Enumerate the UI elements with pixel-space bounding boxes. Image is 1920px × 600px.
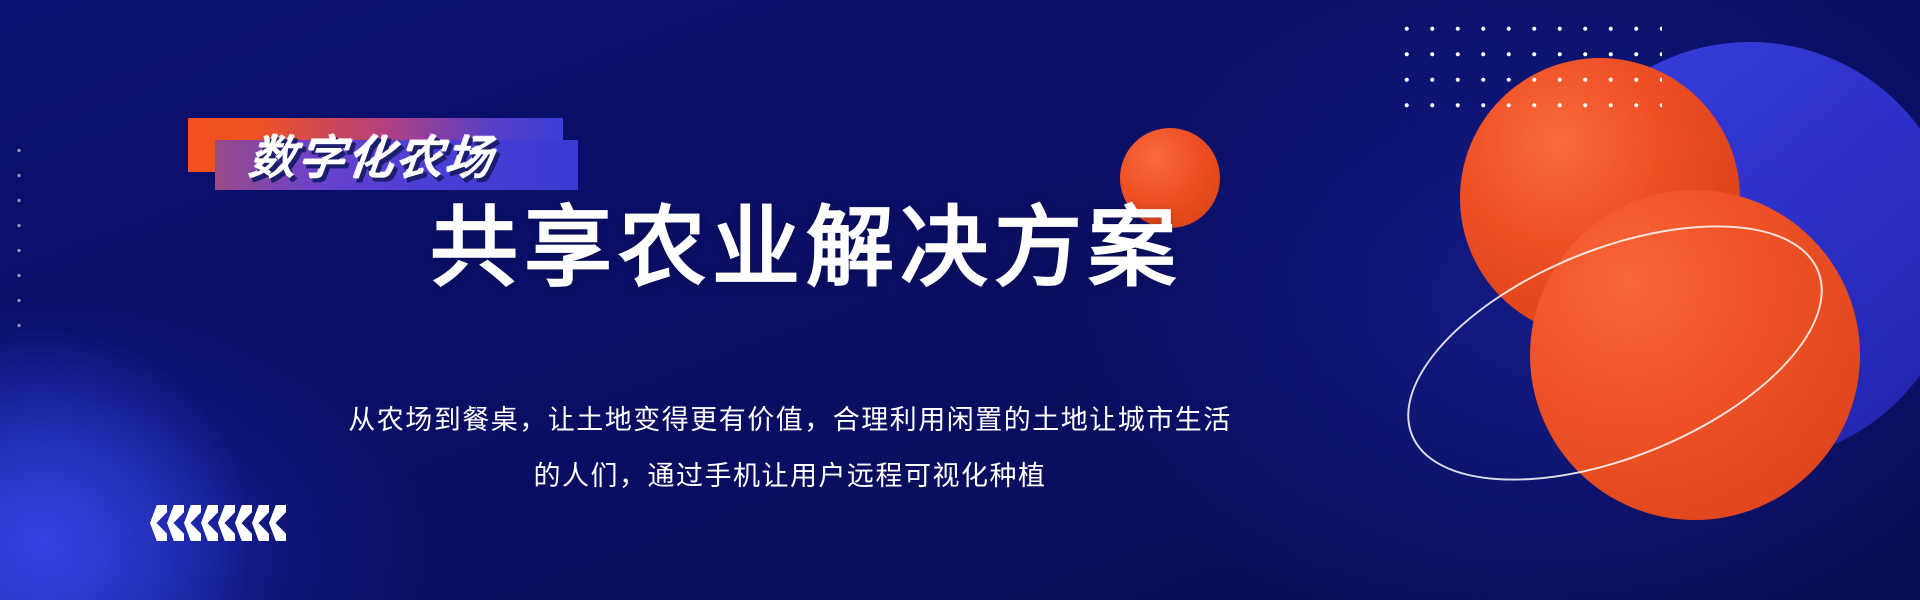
chevron-left-arrows-decoration <box>150 498 286 548</box>
subtitle-line-2: 的人们，通过手机让用户远程可视化种植 <box>300 448 1280 504</box>
dot-grid-decoration <box>1392 12 1662 122</box>
blue-glow-blob-decoration <box>0 330 250 600</box>
dot-column-decoration <box>16 138 22 338</box>
subtitle-line-1: 从农场到餐桌，让土地变得更有价值，合理利用闲置的土地让城市生活 <box>300 392 1280 448</box>
chevron-left-icon <box>150 498 167 548</box>
orange-sphere-large-decoration <box>1530 190 1860 520</box>
orbit-ellipse-decoration <box>1372 173 1859 533</box>
chevron-left-icon <box>218 498 235 548</box>
blue-ring-circle-decoration <box>1540 42 1920 462</box>
subtitle: 从农场到餐桌，让土地变得更有价值，合理利用闲置的土地让城市生活 的人们，通过手机… <box>300 392 1280 504</box>
promo-banner: 数字化农场 共享农业解决方案 从农场到餐桌，让土地变得更有价值，合理利用闲置的土… <box>0 0 1920 600</box>
chevron-left-icon <box>235 498 252 548</box>
chevron-left-icon <box>201 498 218 548</box>
chevron-left-icon <box>252 498 269 548</box>
page-title: 共享农业解决方案 <box>430 196 1150 300</box>
chevron-left-icon <box>269 498 286 548</box>
chevron-left-icon <box>167 498 184 548</box>
badge-label: 数字化农场 <box>247 134 497 182</box>
chevron-left-icon <box>184 498 201 548</box>
badge: 数字化农场 <box>188 118 588 194</box>
orange-sphere-medium-decoration <box>1460 58 1740 338</box>
